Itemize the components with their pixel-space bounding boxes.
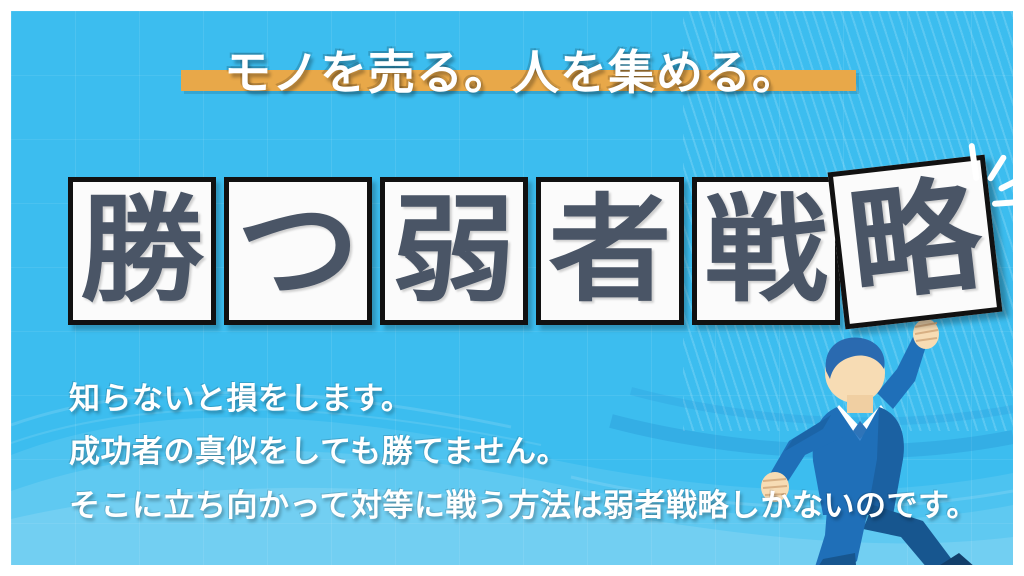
body-copy: 知らないと損をします。 成功者の真似をしても勝てません。 そこに立ち向かって対等… [69,373,978,533]
headline-text: モノを売る。人を集める。 [224,49,800,98]
title-box-char: 弱 [393,193,516,309]
slide-root: モノを売る。人を集める。 勝 つ 弱 者 戦 略 [0,0,1024,576]
title-box-char: 者 [549,193,672,309]
title-box-1: 勝 [68,177,216,325]
title-box-char: つ [237,193,360,309]
title-box-4: 者 [536,177,684,325]
title-box-char: 戦 [705,193,828,309]
title-box-6-tilted: 略 [828,155,1003,330]
title-box-char: 勝 [81,193,204,309]
body-line-2: 成功者の真似をしても勝てません。 [69,426,978,479]
headline-container: モノを売る。人を集める。 [11,49,1013,98]
body-line-1: 知らないと損をします。 [69,373,978,426]
title-box-3: 弱 [380,177,528,325]
title-box-5: 戦 [692,177,840,325]
title-box-char: 略 [843,173,988,311]
title-box-2: つ [224,177,372,325]
body-line-3: そこに立ち向かって対等に戦う方法は弱者戦略しかないのです。 [69,480,978,533]
slide-canvas: モノを売る。人を集める。 勝 つ 弱 者 戦 略 [11,11,1013,565]
